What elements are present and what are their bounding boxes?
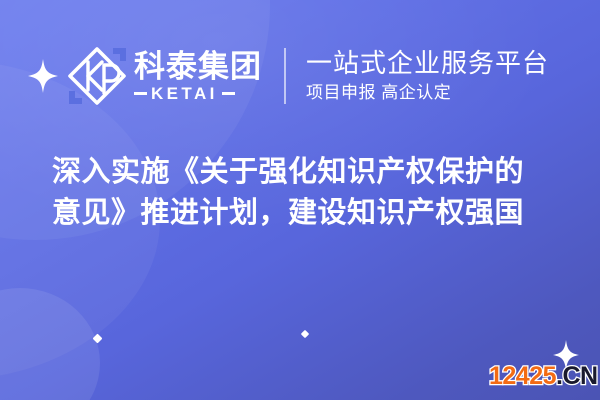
banner-title: 深入实施《关于强化知识产权保护的意见》推进计划，建设知识产权强国 (52, 152, 552, 234)
site-watermark: 12425.CN (489, 362, 598, 390)
diamond-dot-icon (93, 334, 103, 344)
banner-header: 科泰集团 KETAI 一站式企业服务平台 项目申报 高企认定 (0, 36, 600, 116)
background-blob-bottom-left (0, 288, 100, 400)
header-slogan-block: 一站式企业服务平台 项目申报 高企认定 (306, 48, 549, 104)
watermark-number: 12425 (489, 362, 556, 390)
logo-rule-left (134, 92, 147, 95)
diamond-dot-icon (301, 330, 309, 338)
ketai-diamond-logo-icon (66, 45, 128, 107)
watermark-tld: .CN (556, 362, 598, 390)
logo-chinese-name: 科泰集团 (134, 50, 262, 83)
header-divider (284, 48, 286, 104)
logo-wordmark: 科泰集团 KETAI (134, 50, 262, 103)
logo-english-name: KETAI (151, 85, 218, 103)
logo-english-row: KETAI (134, 85, 262, 103)
sparkle-icon (28, 59, 58, 93)
slogan-primary: 一站式企业服务平台 (306, 48, 549, 78)
promo-banner: 科泰集团 KETAI 一站式企业服务平台 项目申报 高企认定 深入实施《关于强化… (0, 0, 600, 400)
logo-rule-right (222, 92, 235, 95)
slogan-secondary: 项目申报 高企认定 (306, 82, 549, 104)
